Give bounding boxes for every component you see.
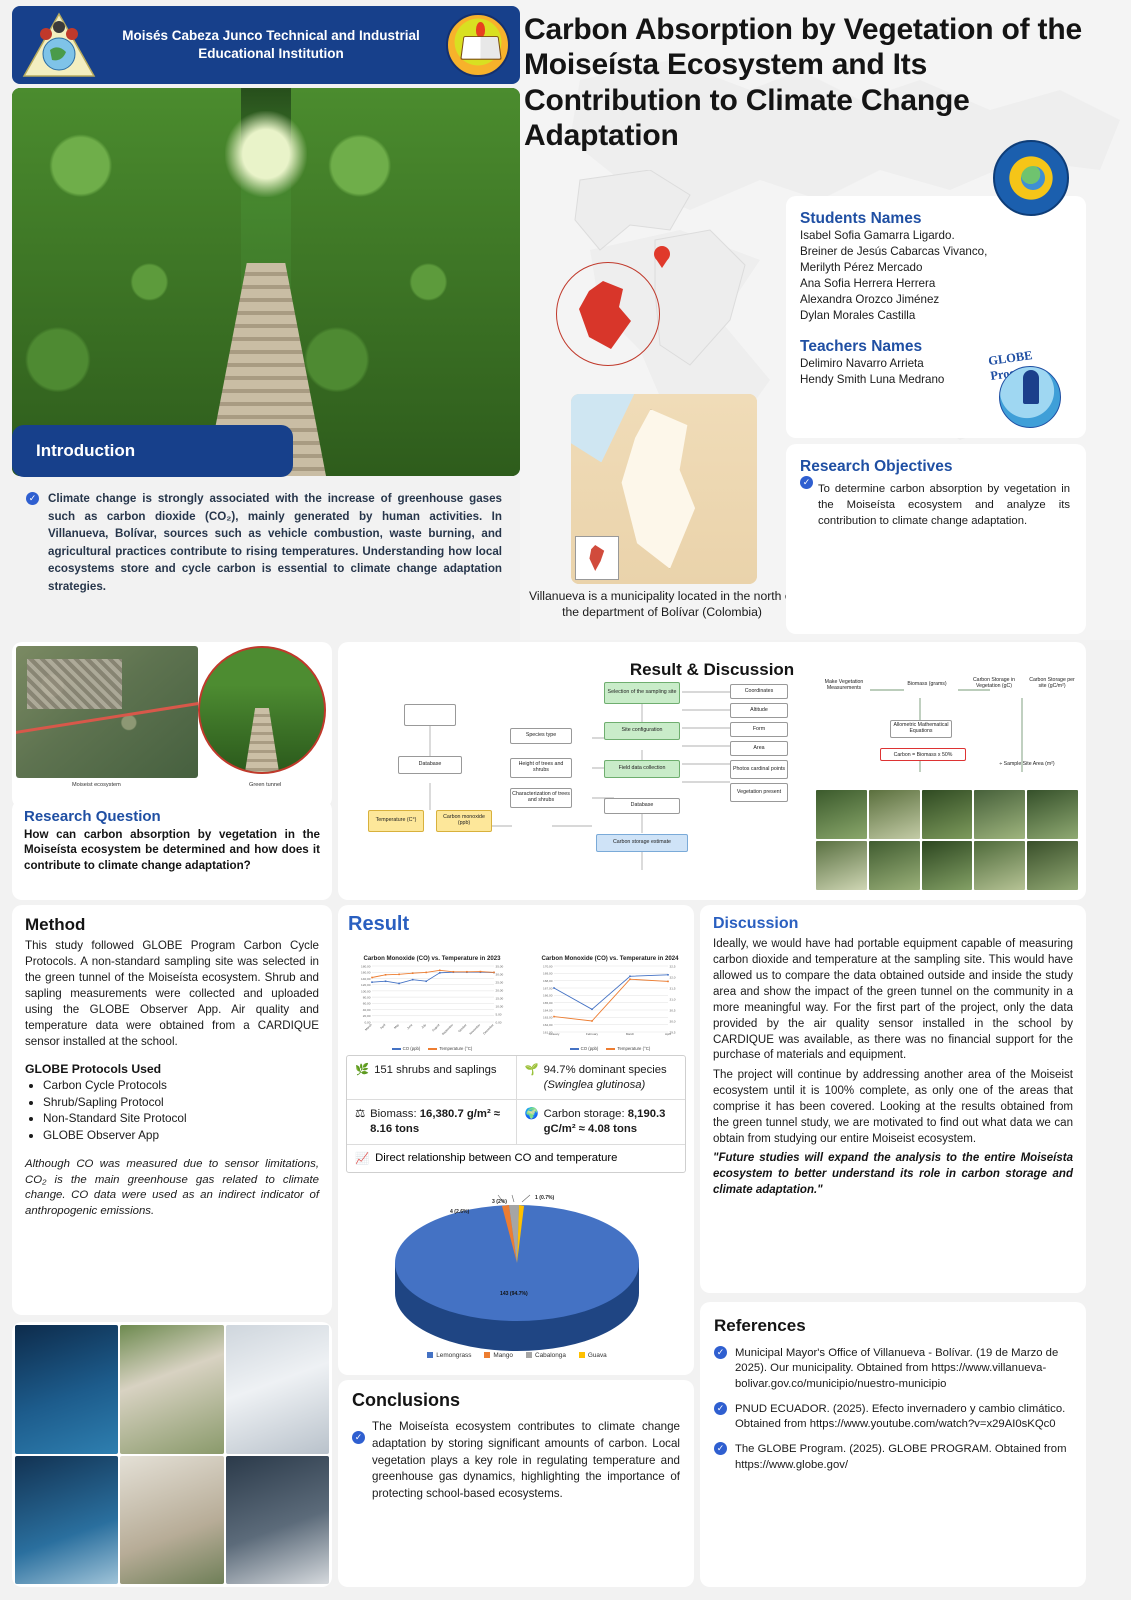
map-caption: Villanueva is a municipality located in … [528, 588, 796, 620]
research-question-text: How can carbon absorption by vegetation … [24, 827, 320, 873]
flow-node-vegetation-present: Vegetation present [730, 783, 788, 802]
carbon-calculation-flowchart: Make Vegetation Measurements Biomass (gr… [808, 676, 1076, 796]
photo-caption-right: Green tunnel [249, 782, 281, 788]
virtual-science-symposium-badge-icon [993, 140, 1069, 216]
flow-node-temperature: Temperature (C°) [368, 810, 424, 832]
stat-shrubs: 🌿 151 shrubs and saplings [347, 1056, 517, 1099]
check-icon: ✓ [352, 1431, 365, 1444]
chart-title-2023: Carbon Monoxide (CO) vs. Temperature in … [346, 955, 518, 962]
stat-biomass: ⚖ Biomass: 16,380.7 g/m² ≈ 8.16 tons [347, 1100, 517, 1143]
field-photo [922, 841, 973, 890]
camino-a-la-excelencia-triangle-logo [22, 12, 96, 78]
flow-node-sensor [404, 704, 456, 726]
svg-text:166,00: 166,00 [543, 994, 553, 998]
check-icon: ✓ [714, 1346, 727, 1359]
scale-icon: ⚖ [355, 1107, 365, 1122]
conclusions-text: The Moiseísta ecosystem contributes to c… [352, 1419, 680, 1503]
field-photo [922, 790, 973, 839]
pie-label-cabalonga: 3 (2%) [492, 1199, 507, 1205]
introduction-section: ✓ Climate change is strongly associated … [12, 478, 520, 622]
svg-text:20,00: 20,00 [496, 988, 504, 992]
svg-text:31,0: 31,0 [670, 997, 676, 1001]
svg-text:February: February [586, 1032, 599, 1036]
sprout-icon: 🌱 [525, 1063, 539, 1078]
field-photo [869, 841, 920, 890]
chart-legend-2024: CO (ppb) Temperature (°C) [528, 1046, 692, 1051]
list-item: ✓ The GLOBE Program. (2025). GLOBE PROGR… [714, 1442, 1072, 1473]
list-item: ✓ Municipal Mayor's Office of Villanueva… [714, 1346, 1072, 1392]
svg-text:80,00: 80,00 [363, 996, 371, 1000]
fieldwork-photo [226, 1456, 329, 1585]
stat-relationship: 📈 Direct relationship between CO and tem… [347, 1145, 625, 1172]
flow-node-form: Form [730, 722, 788, 737]
colombia-highlight-circle [556, 262, 660, 366]
field-activity-photos [816, 790, 1078, 890]
svg-text:May: May [393, 1023, 400, 1030]
svg-text:60,00: 60,00 [363, 1002, 371, 1006]
flow-node-height-trees: Height of trees and shrubs [510, 758, 572, 778]
poster-title: Carbon Absorption by Vegetation of the M… [524, 12, 1084, 154]
protocols-heading: GLOBE Protocols Used [25, 1062, 319, 1076]
fieldwork-photo [15, 1325, 118, 1454]
svg-text:November: November [469, 1023, 482, 1036]
flow-node-database: Database [398, 756, 462, 774]
protocols-list: Carbon Cycle Protocols Shrub/Sapling Pro… [43, 1077, 319, 1144]
stat-dominant-species: 🌱 94.7% dominant species(Swinglea glutin… [517, 1056, 686, 1099]
svg-text:40,00: 40,00 [363, 1008, 371, 1012]
field-photo [974, 790, 1025, 839]
flow-node-area: Area [730, 741, 788, 756]
flow-node-site-configuration: Site configuration [604, 722, 680, 740]
svg-text:163,00: 163,00 [543, 1016, 553, 1020]
flow-node-species-type: Species type [510, 728, 572, 744]
table-row: 🌿 151 shrubs and saplings 🌱 94.7% domina… [347, 1056, 685, 1100]
legend-item-co: CO (ppb) [392, 1046, 421, 1051]
protocol-item: Non-Standard Site Protocol [43, 1110, 319, 1127]
result-statistics-table: 🌿 151 shrubs and saplings 🌱 94.7% domina… [346, 1055, 686, 1173]
field-photo [974, 841, 1025, 890]
flow-node-carbon-monoxide: Carbon monoxide (ppb) [436, 810, 492, 832]
svg-text:September: September [441, 1023, 454, 1036]
bolivar-department-map [571, 394, 757, 584]
student-name: Breiner de Jesús Cabarcas Vivanco, [800, 244, 1072, 260]
fieldwork-photo [120, 1456, 223, 1585]
discussion-paragraph-2: The project will continue by addressing … [713, 1068, 1073, 1148]
institution-header: Moisés Cabeza Junco Technical and Indust… [12, 6, 520, 84]
svg-text:August: August [431, 1023, 441, 1033]
check-icon: ✓ [714, 1442, 727, 1455]
field-photo [869, 790, 920, 839]
green-tunnel-hero-photo [12, 88, 520, 476]
conclusions-card: Conclusions ✓ The Moiseísta ecosystem co… [338, 1380, 694, 1587]
svg-text:December: December [482, 1023, 495, 1036]
student-name: Ana Sofia Herrera Herrera [800, 276, 1072, 292]
fieldwork-photo-grid [12, 1322, 332, 1587]
svg-text:32,5: 32,5 [670, 964, 676, 968]
svg-text:140,00: 140,00 [361, 977, 371, 981]
photo-caption-left: Moiseist ecosystem [72, 782, 121, 788]
svg-text:20,00: 20,00 [363, 1014, 371, 1018]
flow2-node-carbon-formula: Carbon = Biomass x 50% [880, 748, 966, 761]
reference-text: Municipal Mayor's Office of Villanueva -… [735, 1346, 1072, 1392]
fieldwork-photo [120, 1325, 223, 1454]
chart-species-distribution-pie: 4 (2.6%) 3 (2%) 1 (0.7%) 143 (94.7%) [352, 1185, 682, 1365]
legend-item-lemongrass: Lemongrass [427, 1352, 471, 1359]
references-heading: References [714, 1316, 1072, 1336]
svg-text:January: January [549, 1032, 560, 1036]
svg-text:April: April [665, 1032, 671, 1036]
svg-text:June: June [406, 1023, 414, 1031]
earth-icon: 🌍 [525, 1107, 539, 1122]
flow-node-photos-cardinal: Photos cardinal points [730, 760, 788, 779]
chart-title-2024: Carbon Monoxide (CO) vs. Temperature in … [528, 955, 692, 962]
discussion-heading: Discussion [713, 915, 1073, 933]
method-note: Although CO was measured due to sensor l… [25, 1157, 319, 1220]
svg-text:25,00: 25,00 [496, 980, 504, 984]
reference-text: PNUD ECUADOR. (2025). Efecto invernadero… [735, 1402, 1072, 1433]
fieldwork-photo [226, 1325, 329, 1454]
fieldwork-photo [15, 1456, 118, 1585]
research-objectives-card: Research Objectives ✓ To determine carbo… [786, 444, 1086, 634]
flow-node-coordinates: Coordinates [730, 684, 788, 699]
flow-node-carbon-storage-estimate: Carbon storage estimate [596, 834, 688, 852]
field-photo [1027, 841, 1078, 890]
flow-node-database-2: Database [604, 798, 680, 814]
trend-icon: 📈 [355, 1152, 369, 1165]
discussion-quote: "Future studies will expand the analysis… [713, 1151, 1073, 1199]
method-text: This study followed GLOBE Program Carbon… [25, 938, 319, 1050]
student-name: Merilyth Pérez Mercado [800, 260, 1072, 276]
globe-program-logo-icon: GLOBE Program [985, 348, 1077, 430]
legend-item-mango: Mango [484, 1352, 513, 1359]
flow2-label-biomass: Biomass (grams) [900, 682, 954, 688]
check-icon: ✓ [800, 476, 813, 489]
svg-text:October: October [457, 1023, 467, 1033]
svg-text:32,0: 32,0 [670, 975, 676, 979]
reference-text: The GLOBE Program. (2025). GLOBE PROGRAM… [735, 1442, 1072, 1473]
institucion-educativa-tecnica-industrial-seal [446, 13, 510, 77]
methodology-flowchart: Database Temperature (C°) Carbon monoxid… [352, 678, 802, 896]
flow-node-selection-site: Selection of the sampling site [604, 682, 680, 704]
field-photo [816, 790, 867, 839]
check-icon: ✓ [26, 492, 39, 505]
poster-canvas: Moisés Cabeza Junco Technical and Indust… [0, 0, 1131, 1600]
svg-text:160,00: 160,00 [361, 971, 371, 975]
shrub-icon: 🌿 [355, 1063, 369, 1078]
protocol-item: Shrub/Sapling Protocol [43, 1094, 319, 1111]
flow2-label-divide-area: ÷ Sample Site Area (m²) [984, 762, 1070, 768]
flow2-label-carbon-storage-site: Carbon Storage per site (gC/m²) [1028, 678, 1076, 690]
pie-label-lemongrass: 143 (94.7%) [500, 1291, 528, 1297]
chart-co-temperature-2023: Carbon Monoxide (CO) vs. Temperature in … [346, 955, 518, 1055]
references-card: References ✓ Municipal Mayor's Office of… [700, 1302, 1086, 1587]
student-name: Isabel Sofia Gamarra Ligardo. [800, 228, 1072, 244]
result-heading: Result [348, 913, 684, 936]
method-card: Method This study followed GLOBE Program… [12, 905, 332, 1315]
table-row: ⚖ Biomass: 16,380.7 g/m² ≈ 8.16 tons 🌍 C… [347, 1100, 685, 1144]
table-row: 📈 Direct relationship between CO and tem… [347, 1145, 685, 1172]
flow-node-characterization: Characterization of trees and shrubs [510, 788, 572, 808]
student-name: Dylan Morales Castilla [800, 308, 1072, 324]
introduction-text: Climate change is strongly associated wi… [26, 490, 502, 596]
svg-text:15,00: 15,00 [496, 996, 504, 1000]
svg-text:0,00: 0,00 [496, 1020, 502, 1024]
legend-item-temp: Temperature (°C) [428, 1046, 472, 1051]
pie-label-mango: 4 (2.6%) [450, 1209, 469, 1215]
pie-chart-legend: Lemongrass Mango Cabalonga Guava [352, 1352, 682, 1359]
legend-item-cabalonga: Cabalonga [526, 1352, 566, 1359]
svg-text:180,00: 180,00 [361, 964, 371, 968]
discussion-card: Discussion Ideally, we would have had po… [700, 905, 1086, 1293]
svg-text:120,00: 120,00 [361, 983, 371, 987]
objectives-heading: Research Objectives [800, 458, 1070, 476]
check-icon: ✓ [714, 1402, 727, 1415]
svg-text:July: July [420, 1023, 427, 1030]
svg-text:162,00: 162,00 [543, 1023, 553, 1027]
svg-text:30,00: 30,00 [496, 972, 504, 976]
flow2-node-allometric: Allometric Mathematical Equations [890, 720, 952, 738]
flow2-label-measurements: Make Vegetation Measurements [814, 680, 874, 692]
protocol-item: Carbon Cycle Protocols [43, 1077, 319, 1094]
svg-text:10,00: 10,00 [496, 1004, 504, 1008]
flow-node-altitude: Altitude [730, 703, 788, 718]
field-photo [816, 841, 867, 890]
student-name: Alexandra Orozco Jiménez [800, 292, 1072, 308]
method-heading: Method [25, 915, 319, 935]
objectives-text: To determine carbon absorption by vegeta… [800, 481, 1070, 529]
chart-co-temperature-2024: Carbon Monoxide (CO) vs. Temperature in … [528, 955, 692, 1055]
svg-text:March: March [626, 1032, 635, 1036]
legend-item-guava: Guava [579, 1352, 607, 1359]
svg-text:5,00: 5,00 [496, 1012, 502, 1016]
discussion-paragraph-1: Ideally, we would have had portable equi… [713, 937, 1073, 1064]
stat-carbon-storage: 🌍 Carbon storage: 8,190.3 gC/m² ≈ 4.08 t… [517, 1100, 686, 1143]
legend-item-temp: Temperature (°C) [606, 1046, 650, 1051]
svg-text:30,0: 30,0 [670, 1019, 676, 1023]
school-name: Moisés Cabeza Junco Technical and Indust… [96, 27, 446, 62]
pie-label-guava: 1 (0.7%) [535, 1195, 554, 1201]
conclusions-heading: Conclusions [352, 1390, 680, 1411]
introduction-heading: Introduction [12, 425, 293, 477]
research-question-card: Research Question How can carbon absorpt… [12, 800, 332, 900]
research-question-heading: Research Question [24, 808, 320, 825]
svg-text:170,00: 170,00 [543, 964, 553, 968]
flow-node-field-data-collection: Field data collection [604, 760, 680, 778]
chart-legend-2023: CO (ppb) Temperature (°C) [346, 1046, 518, 1051]
svg-text:167,00: 167,00 [543, 986, 553, 990]
svg-text:31,5: 31,5 [670, 986, 676, 990]
svg-text:169,00: 169,00 [543, 972, 553, 976]
legend-item-co: CO (ppb) [570, 1046, 599, 1051]
svg-text:April: April [379, 1023, 386, 1030]
svg-text:100,00: 100,00 [361, 989, 371, 993]
location-pin-icon [654, 246, 670, 268]
list-item: ✓ PNUD ECUADOR. (2025). Efecto invernade… [714, 1402, 1072, 1433]
svg-text:35,00: 35,00 [496, 964, 504, 968]
svg-text:30,5: 30,5 [670, 1008, 676, 1012]
students-list: Isabel Sofia Gamarra Ligardo. Breiner de… [800, 228, 1072, 324]
svg-text:165,00: 165,00 [543, 1001, 553, 1005]
field-photo [1027, 790, 1078, 839]
svg-text:168,00: 168,00 [543, 979, 553, 983]
satellite-photo [16, 646, 198, 778]
svg-text:164,00: 164,00 [543, 1008, 553, 1012]
protocol-item: GLOBE Observer App [43, 1127, 319, 1144]
flow2-label-carbon-storage-vegetation: Carbon Storage in Vegetation (gC) [966, 678, 1022, 690]
green-tunnel-photo [198, 646, 326, 774]
site-photos-card: Moiseist ecosystem Green tunnel [12, 642, 332, 808]
